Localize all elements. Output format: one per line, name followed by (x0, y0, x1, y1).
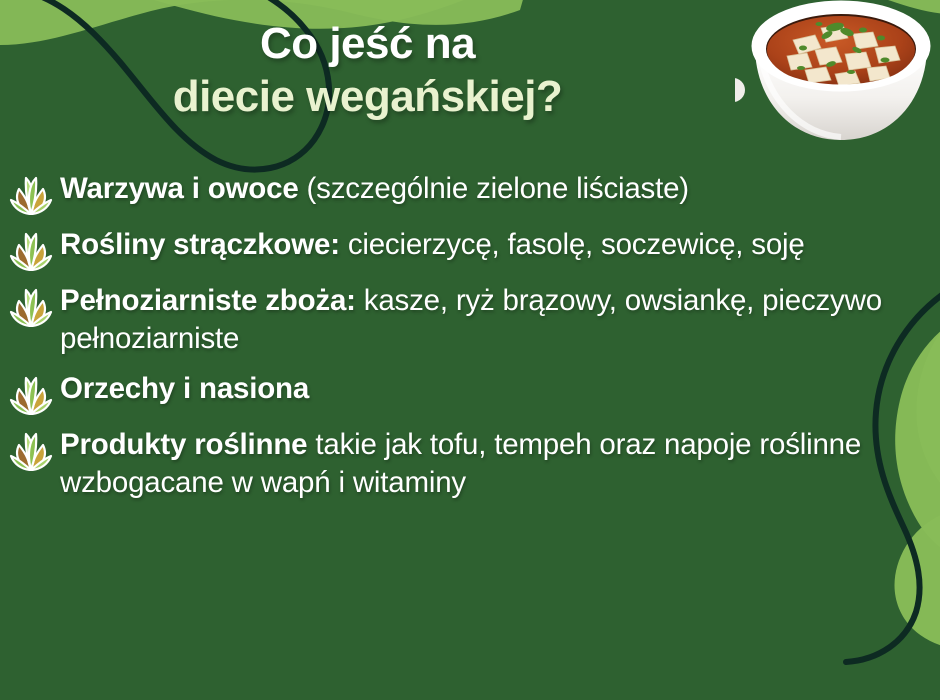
title-line-2: diecie wegańskiej? (0, 71, 735, 124)
list-item-text: Warzywa i owoce (szczególnie zielone liś… (60, 170, 940, 208)
list-item-bold: Warzywa i owoce (60, 172, 299, 205)
title-line-1: Co jeść na (0, 18, 735, 71)
list-item: Rośliny strączkowe: ciecierzycę, fasolę,… (8, 226, 940, 271)
list-item-text: Rośliny strączkowe: ciecierzycę, fasolę,… (60, 226, 940, 264)
list-item: Warzywa i owoce (szczególnie zielone liś… (8, 170, 940, 215)
spoon-tip (735, 78, 745, 102)
list-item: Produkty roślinne takie jak tofu, tempeh… (8, 426, 940, 503)
list-item: Orzechy i nasiona (8, 370, 940, 415)
list-item: Pełnoziarniste zboża: kasze, ryż brązowy… (8, 282, 940, 359)
list-item-rest: (szczególnie zielone liściaste) (299, 172, 689, 205)
list-item-text: Produkty roślinne takie jak tofu, tempeh… (60, 426, 940, 503)
blob-bottom-right (895, 506, 940, 650)
list-item-rest: ciecierzycę, fasolę, soczewicę, soję (340, 228, 805, 261)
leaf-icon (8, 375, 54, 415)
leaf-icon (8, 287, 54, 327)
list-item-bold: Pełnoziarniste zboża: (60, 284, 356, 317)
infographic-poster: Co jeść na diecie wegańskiej? Warzywa i … (0, 0, 940, 700)
list-item-bold: Orzechy i nasiona (60, 372, 309, 405)
list-item-bold: Produkty roślinne (60, 428, 307, 461)
food-list: Warzywa i owoce (szczególnie zielone liś… (8, 170, 940, 513)
list-item-text: Pełnoziarniste zboża: kasze, ryż brązowy… (60, 282, 940, 359)
leaf-icon (8, 431, 54, 471)
list-item-text: Orzechy i nasiona (60, 370, 940, 408)
leaf-icon (8, 175, 54, 215)
leaf-icon (8, 231, 54, 271)
page-title: Co jeść na diecie wegańskiej? (0, 18, 735, 124)
tofu-curry-bowl-photo (735, 0, 940, 154)
list-item-bold: Rośliny strączkowe: (60, 228, 340, 261)
